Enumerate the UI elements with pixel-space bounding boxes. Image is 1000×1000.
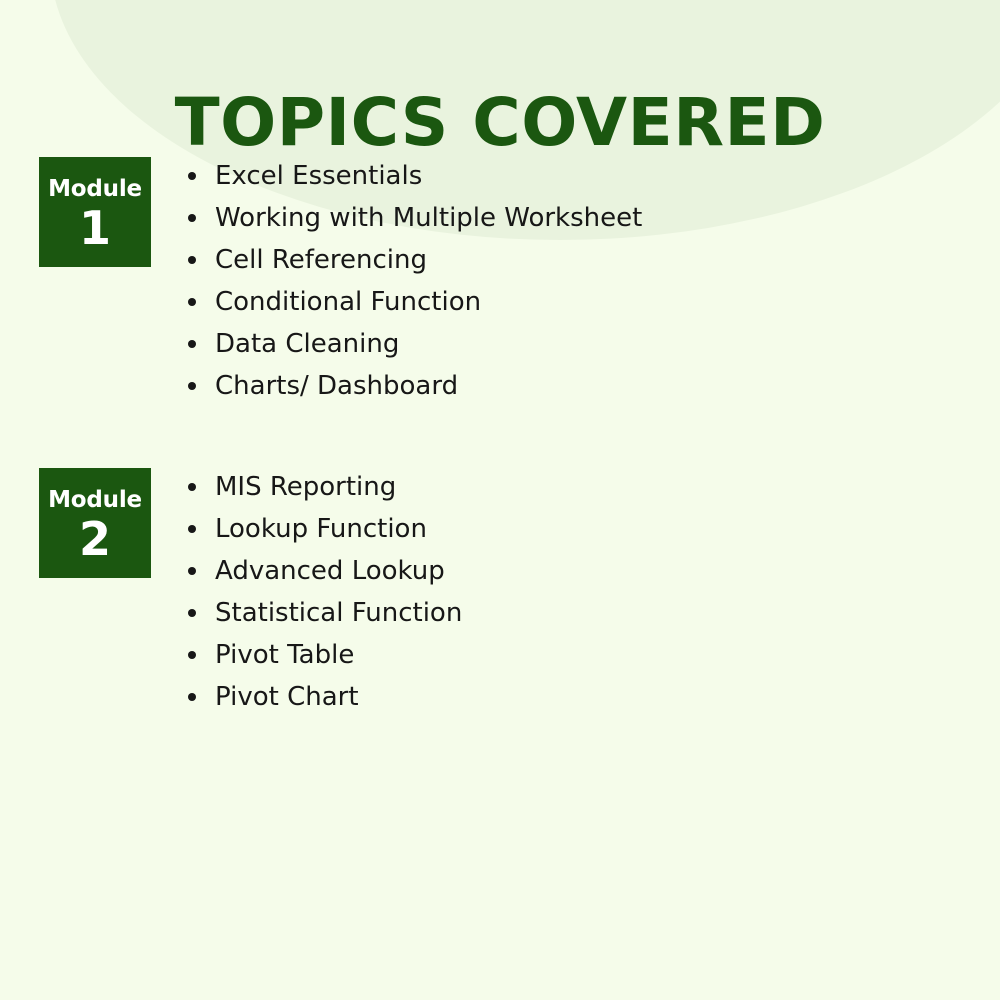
list-item: Excel Essentials <box>186 155 642 197</box>
list-item: Pivot Chart <box>186 676 462 718</box>
bullet-icon <box>188 340 196 348</box>
topic-label: Pivot Chart <box>215 682 359 712</box>
list-item: Pivot Table <box>186 634 462 676</box>
list-item: Advanced Lookup <box>186 550 462 592</box>
list-item: Statistical Function <box>186 592 462 634</box>
module-badge-1: Module 1 <box>39 157 151 267</box>
list-item: MIS Reporting <box>186 466 462 508</box>
topic-list-module-2: MIS Reporting Lookup Function Advanced L… <box>186 466 462 718</box>
bullet-icon <box>188 483 196 491</box>
module-badge-number: 1 <box>79 205 111 251</box>
topic-label: Statistical Function <box>215 598 462 628</box>
page-title: TOPICS COVERED <box>0 90 1000 156</box>
list-item: Charts/ Dashboard <box>186 365 642 407</box>
bullet-icon <box>188 525 196 533</box>
topic-label: Excel Essentials <box>215 161 422 191</box>
topic-label: Lookup Function <box>215 514 427 544</box>
list-item: Cell Referencing <box>186 239 642 281</box>
topic-label: Conditional Function <box>215 287 481 317</box>
module-badge-2: Module 2 <box>39 468 151 578</box>
list-item: Conditional Function <box>186 281 642 323</box>
bullet-icon <box>188 693 196 701</box>
module-badge-label: Module <box>48 489 142 512</box>
bullet-icon <box>188 651 196 659</box>
slide-canvas: TOPICS COVERED Module 1 Excel Essentials… <box>0 0 1000 1000</box>
bullet-icon <box>188 172 196 180</box>
bullet-icon <box>188 609 196 617</box>
list-item: Working with Multiple Worksheet <box>186 197 642 239</box>
topic-label: Pivot Table <box>215 640 354 670</box>
bullet-icon <box>188 256 196 264</box>
bullet-icon <box>188 382 196 390</box>
topic-label: Advanced Lookup <box>215 556 445 586</box>
topic-label: Data Cleaning <box>215 329 399 359</box>
bullet-icon <box>188 298 196 306</box>
topic-label: MIS Reporting <box>215 472 396 502</box>
bullet-icon <box>188 567 196 575</box>
module-badge-number: 2 <box>79 516 111 562</box>
topic-label: Working with Multiple Worksheet <box>215 203 642 233</box>
module-badge-label: Module <box>48 178 142 201</box>
topic-list-module-1: Excel Essentials Working with Multiple W… <box>186 155 642 407</box>
topic-label: Charts/ Dashboard <box>215 371 458 401</box>
topic-label: Cell Referencing <box>215 245 427 275</box>
bullet-icon <box>188 214 196 222</box>
list-item: Lookup Function <box>186 508 462 550</box>
list-item: Data Cleaning <box>186 323 642 365</box>
